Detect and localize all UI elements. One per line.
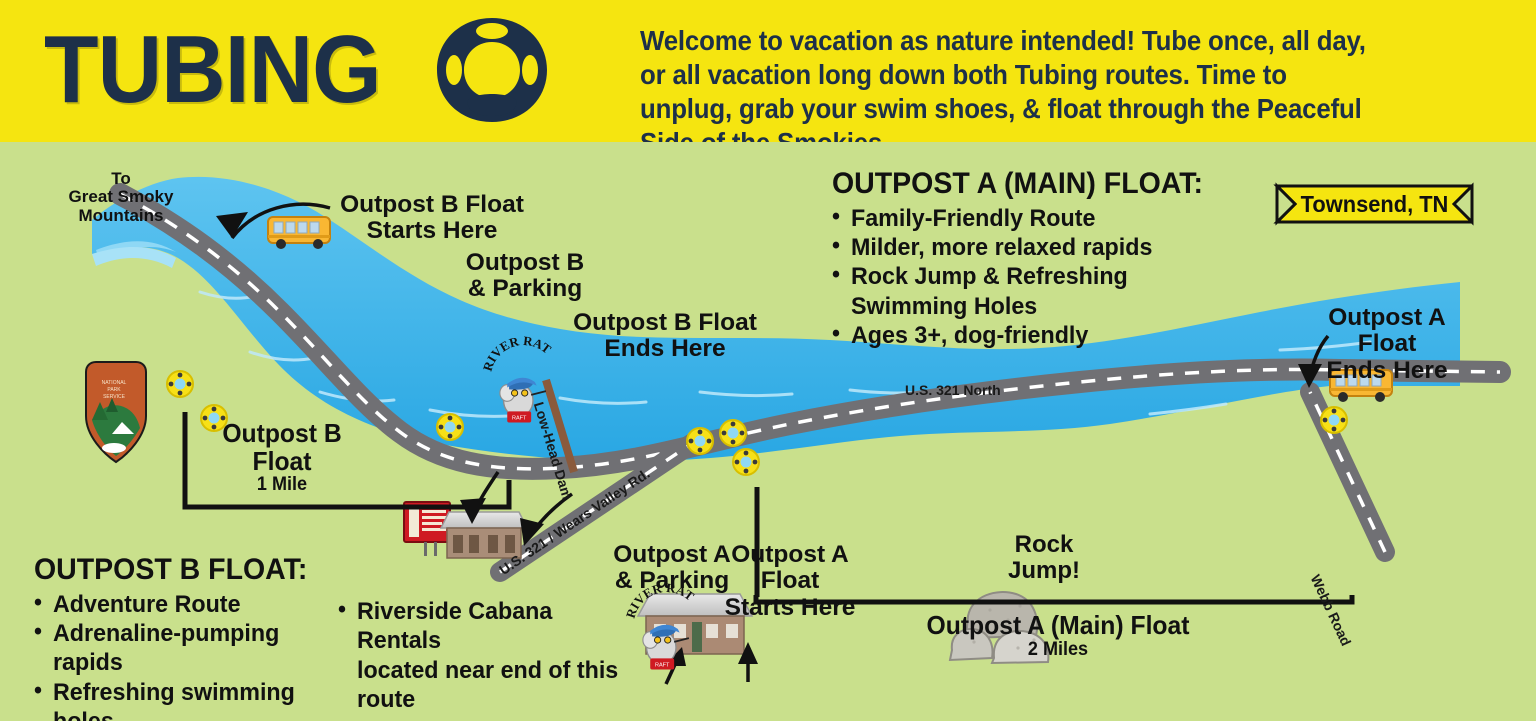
- tubing-map-infographic: TUBING Welcome to vacation as nature int…: [0, 0, 1536, 721]
- label-outpost-b-float-ends-here: Outpost B Float Ends Here: [568, 310, 762, 363]
- bracket-label-outpost-a: Outpost A (Main) Float 2 Miles: [858, 612, 1258, 660]
- svg-text:RAFT: RAFT: [655, 663, 670, 669]
- location-badge-label: Townsend, TN: [1282, 186, 1467, 222]
- info-list-outpost-b-extra: Riverside Cabana Rentals located near en…: [338, 597, 638, 721]
- svg-text:PARK: PARK: [107, 387, 121, 393]
- info-block-outpost-a-main-float: OUTPOST A (MAIN) FLOAT: Family-Friendly …: [832, 168, 1262, 350]
- info-list-outpost-a: Family-Friendly Route Milder, more relax…: [832, 204, 1262, 351]
- info-item: Refreshing swimming holes: [34, 678, 348, 721]
- info-block-outpost-b-float: OUTPOST B FLOAT: Adventure Route Adrenal…: [34, 554, 364, 721]
- bracket-distance-outpost-a: 2 Miles: [868, 640, 1248, 660]
- label-road-us-321-north: U.S. 321 North: [905, 382, 1001, 398]
- bracket-distance-outpost-b: 1 Mile: [197, 475, 368, 495]
- label-rock-jump: Rock Jump!: [985, 532, 1103, 584]
- info-item: Milder, more relaxed rapids: [832, 233, 1241, 262]
- header-subtitle: Welcome to vacation as nature intended! …: [640, 24, 1383, 160]
- bracket-title-outpost-b: Outpost B Float: [197, 420, 368, 475]
- life-ring-icon: [428, 14, 556, 126]
- svg-text:RAFT: RAFT: [512, 416, 527, 422]
- bracket-title-outpost-a: Outpost A (Main) Float: [868, 612, 1248, 640]
- header-banner: TUBING Welcome to vacation as nature int…: [0, 0, 1536, 142]
- info-heading-outpost-a: OUTPOST A (MAIN) FLOAT:: [832, 168, 1241, 200]
- info-item: Riverside Cabana Rentals located near en…: [338, 597, 623, 715]
- info-item: Ages 3+, dog-friendly: [832, 321, 1241, 350]
- location-badge: Townsend, TN: [1277, 186, 1472, 222]
- national-park-service-emblem: NATIONAL PARK SERVICE: [86, 362, 146, 462]
- label-outpost-b-float-starts-here: Outpost B Float Starts Here: [330, 192, 534, 245]
- info-item: Adventure Route: [34, 590, 348, 619]
- info-block-outpost-b-extra: Riverside Cabana Rentals located near en…: [338, 597, 638, 721]
- svg-text:SERVICE: SERVICE: [103, 394, 126, 400]
- svg-text:NATIONAL: NATIONAL: [102, 380, 127, 386]
- label-outpost-a-float-ends-here: Outpost A Float Ends Here: [1306, 305, 1468, 384]
- page-title: TUBING: [44, 20, 381, 120]
- roadside-billboard-sign: [404, 502, 450, 556]
- label-outpost-b-and-parking: Outpost B & Parking: [455, 250, 595, 303]
- info-item: Rock Jump & Refreshing Swimming Holes: [832, 262, 1241, 321]
- info-item: Adrenaline-pumping rapids: [34, 619, 348, 678]
- info-item: Family-Friendly Route: [832, 204, 1241, 233]
- label-to-great-smoky-mountains: To Great Smoky Mountains: [62, 170, 180, 225]
- bracket-label-outpost-b: Outpost B Float 1 Mile: [192, 420, 372, 495]
- header-title-group: TUBING: [44, 14, 556, 126]
- map-canvas: NATIONAL PARK SERVICE: [0, 142, 1536, 721]
- label-outpost-a-float-starts-here: Outpost A Float Starts Here: [706, 542, 874, 621]
- info-heading-outpost-b: OUTPOST B FLOAT:: [34, 554, 348, 586]
- info-list-outpost-b: Adventure Route Adrenaline-pumping rapid…: [34, 590, 364, 721]
